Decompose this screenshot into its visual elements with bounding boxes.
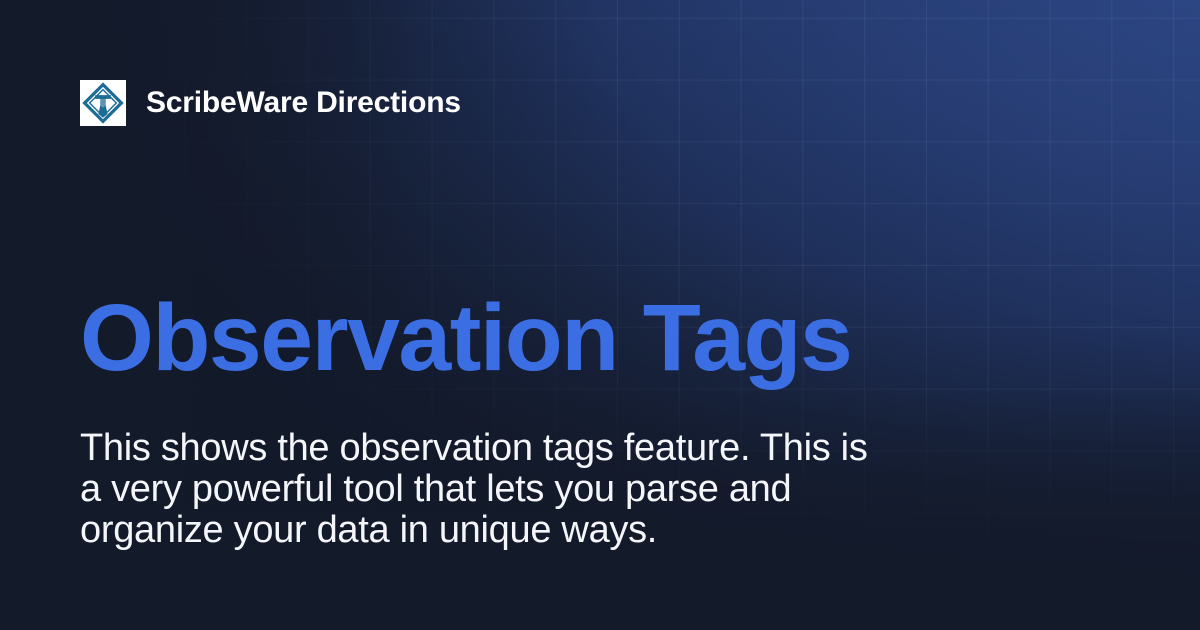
- card-content: ScribeWare Directions Observation Tags T…: [0, 0, 1200, 630]
- page-description: This shows the observation tags feature.…: [80, 428, 870, 551]
- brand-lockup: ScribeWare Directions: [80, 80, 461, 126]
- brand-name: ScribeWare Directions: [146, 88, 461, 118]
- scribeware-logo-icon: [80, 80, 126, 126]
- page-title: Observation Tags: [80, 291, 851, 386]
- og-card: ScribeWare Directions Observation Tags T…: [0, 0, 1200, 630]
